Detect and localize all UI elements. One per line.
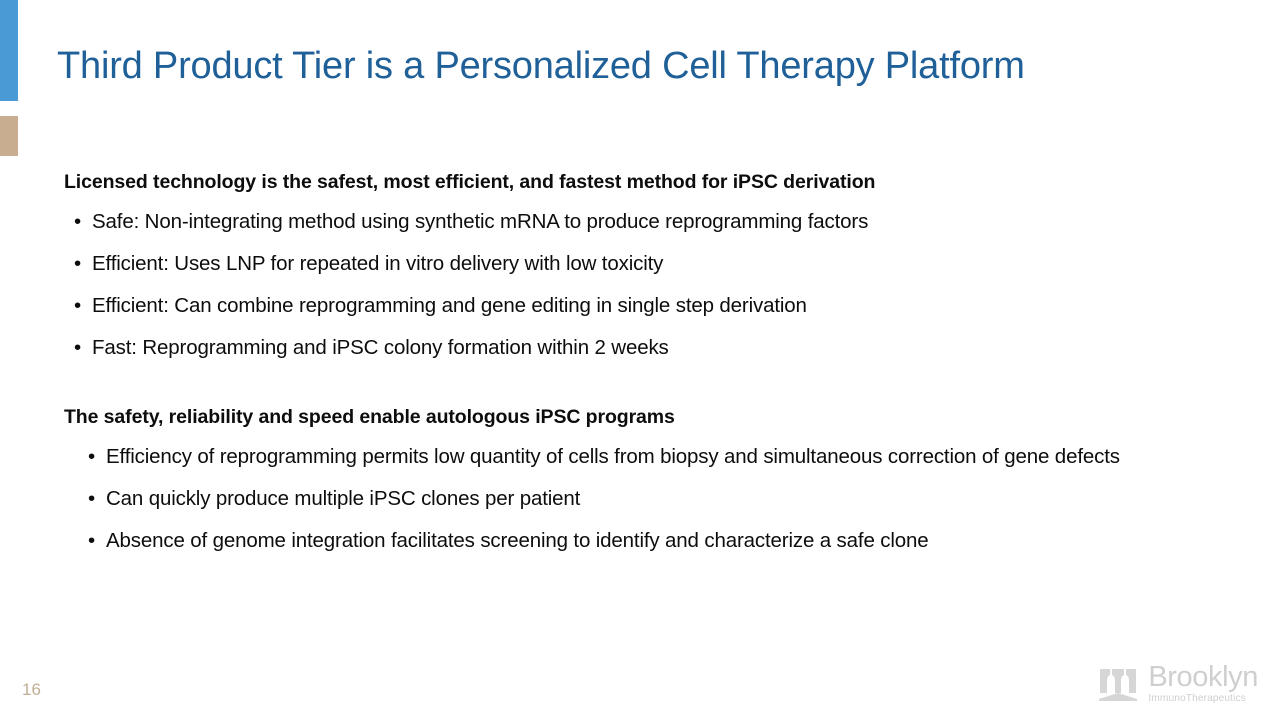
list-item: • Efficient: Can combine reprogramming a… [64,292,1167,319]
list-item: • Can quickly produce multiple iPSC clon… [78,485,1181,512]
slide-title: Third Product Tier is a Personalized Cel… [57,40,1217,92]
list-item: • Safe: Non-integrating method using syn… [64,208,1167,235]
logo-wordmark: Brooklyn ImmunoTherapeutics [1148,662,1258,705]
accent-bar-blue [0,0,18,101]
bullet-list-1: • Safe: Non-integrating method using syn… [64,208,1244,361]
list-item-label: Safe: Non-integrating method using synth… [92,210,868,233]
list-item-label: Efficient: Can combine reprogramming and… [92,294,807,317]
brooklyn-bridge-icon [1097,663,1139,705]
logo-company-name: Brooklyn [1148,662,1258,692]
list-item-label: Absence of genome integration facilitate… [106,529,929,552]
list-item-label: Efficiency of reprogramming permits low … [106,445,1120,468]
list-item: • Efficient: Uses LNP for repeated in vi… [64,250,1167,277]
bullet-marker-icon: • [74,292,81,319]
bullet-list-2: • Efficiency of reprogramming permits lo… [64,443,1244,554]
bullet-marker-icon: • [88,527,95,554]
logo-company-subtitle: ImmunoTherapeutics [1148,693,1258,705]
bullet-marker-icon: • [88,443,95,470]
content-section-2: The safety, reliability and speed enable… [64,403,1244,554]
list-item: • Efficiency of reprogramming permits lo… [78,443,1181,470]
list-item-label: Can quickly produce multiple iPSC clones… [106,487,580,510]
accent-bar-tan [0,116,18,156]
slide-canvas: Third Product Tier is a Personalized Cel… [0,0,1280,720]
bullet-marker-icon: • [74,250,81,277]
list-item: • Fast: Reprogramming and iPSC colony fo… [64,334,1167,361]
bullet-marker-icon: • [88,485,95,512]
slide-body: Licensed technology is the safest, most … [64,168,1244,554]
slide-number: 16 [22,680,41,700]
list-item-label: Fast: Reprogramming and iPSC colony form… [92,336,669,359]
company-logo: Brooklyn ImmunoTherapeutics [1097,662,1258,705]
bullet-marker-icon: • [74,208,81,235]
list-item: • Absence of genome integration facilita… [78,527,1181,554]
section-heading-2: The safety, reliability and speed enable… [64,403,1244,431]
bullet-marker-icon: • [74,334,81,361]
content-section-1: Licensed technology is the safest, most … [64,168,1244,361]
section-heading-1: Licensed technology is the safest, most … [64,168,1244,196]
list-item-label: Efficient: Uses LNP for repeated in vitr… [92,252,663,275]
